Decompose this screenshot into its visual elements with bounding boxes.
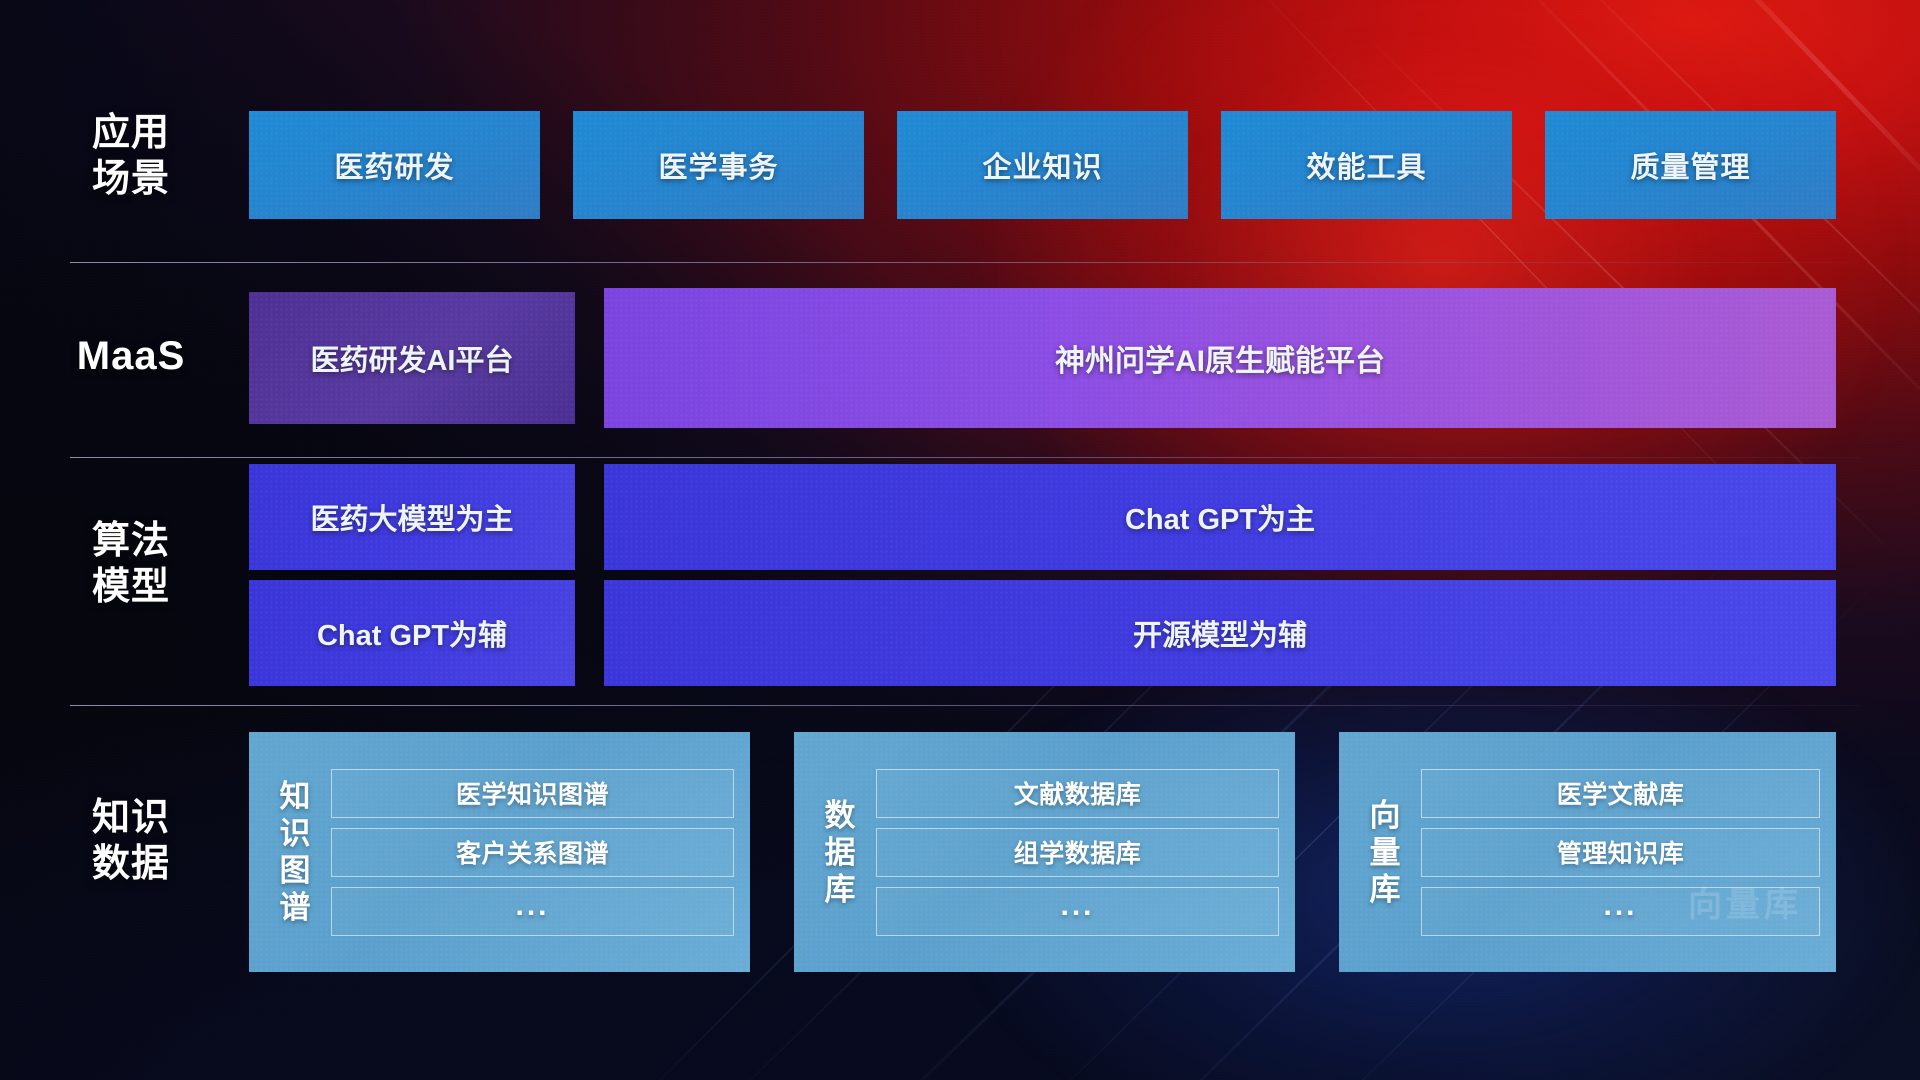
- knowledge-item-more[interactable]: ...: [876, 887, 1279, 936]
- algo-line2-right-label: 开源模型为辅: [1133, 612, 1307, 654]
- algo-line1-left-box[interactable]: 医药大模型为主: [249, 464, 575, 570]
- algo-line2-left-label: Chat GPT为辅: [317, 612, 507, 654]
- app-box-4[interactable]: 效能工具: [1221, 111, 1512, 219]
- app-box-2-label: 医学事务: [658, 144, 778, 186]
- row-label-knowledge: 知识 数据: [42, 795, 220, 887]
- knowledge-card-database-items: 文献数据库 组学数据库 ...: [876, 769, 1279, 936]
- knowledge-item[interactable]: 医学知识图谱: [331, 769, 734, 818]
- knowledge-item[interactable]: 客户关系图谱: [331, 828, 734, 877]
- app-box-1[interactable]: 医药研发: [249, 111, 540, 219]
- row-label-maas: MaaS: [42, 333, 220, 379]
- app-box-3[interactable]: 企业知识: [897, 111, 1188, 219]
- knowledge-item-more[interactable]: ...: [331, 887, 734, 936]
- maas-left-box-label: 医药研发AI平台: [310, 337, 513, 379]
- app-box-1-label: 医药研发: [334, 144, 454, 186]
- knowledge-card-graph[interactable]: 知 识 图 谱 医学知识图谱 客户关系图谱 ...: [249, 732, 750, 972]
- algo-line1-right-label: Chat GPT为主: [1125, 496, 1315, 538]
- divider-algorithm-knowledge: [70, 705, 1860, 706]
- knowledge-card-vector-items: 医学文献库 管理知识库 ...: [1421, 769, 1820, 936]
- algo-line2-right-box[interactable]: 开源模型为辅: [604, 580, 1836, 686]
- row-label-algorithm: 算法 模型: [42, 518, 220, 610]
- algo-line2-left-box[interactable]: Chat GPT为辅: [249, 580, 575, 686]
- knowledge-card-database[interactable]: 数 据 库 文献数据库 组学数据库 ...: [794, 732, 1295, 972]
- row-label-application: 应用 场景: [42, 110, 220, 202]
- maas-left-box[interactable]: 医药研发AI平台: [249, 292, 575, 424]
- app-box-4-label: 效能工具: [1306, 144, 1426, 186]
- app-box-3-label: 企业知识: [982, 144, 1102, 186]
- knowledge-item[interactable]: 文献数据库: [876, 769, 1279, 818]
- algo-line1-right-box[interactable]: Chat GPT为主: [604, 464, 1836, 570]
- app-box-5-label: 质量管理: [1630, 144, 1750, 186]
- app-box-5[interactable]: 质量管理: [1545, 111, 1836, 219]
- knowledge-card-database-title: 数 据 库: [804, 797, 876, 908]
- knowledge-card-vector-title: 向 量 库: [1349, 797, 1421, 908]
- knowledge-item[interactable]: 医学文献库: [1421, 769, 1820, 818]
- divider-maas-algorithm: [70, 457, 1860, 458]
- knowledge-item[interactable]: 管理知识库: [1421, 828, 1820, 877]
- slide-canvas: 应用 场景 医药研发 医学事务 企业知识 效能工具 质量管理 MaaS 医药研发…: [0, 0, 1920, 1080]
- divider-application-maas: [70, 262, 1860, 263]
- maas-right-box[interactable]: 神州问学AI原生赋能平台: [604, 288, 1836, 428]
- knowledge-card-vector[interactable]: 向 量 库 向量库 医学文献库 管理知识库 ...: [1339, 732, 1836, 972]
- knowledge-card-graph-items: 医学知识图谱 客户关系图谱 ...: [331, 769, 734, 936]
- algo-line1-left-label: 医药大模型为主: [310, 496, 513, 538]
- app-box-2[interactable]: 医学事务: [573, 111, 864, 219]
- knowledge-item[interactable]: 组学数据库: [876, 828, 1279, 877]
- maas-right-box-label: 神州问学AI原生赋能平台: [1055, 336, 1385, 380]
- knowledge-item-more[interactable]: ...: [1421, 887, 1820, 936]
- knowledge-card-graph-title: 知 识 图 谱: [259, 778, 331, 926]
